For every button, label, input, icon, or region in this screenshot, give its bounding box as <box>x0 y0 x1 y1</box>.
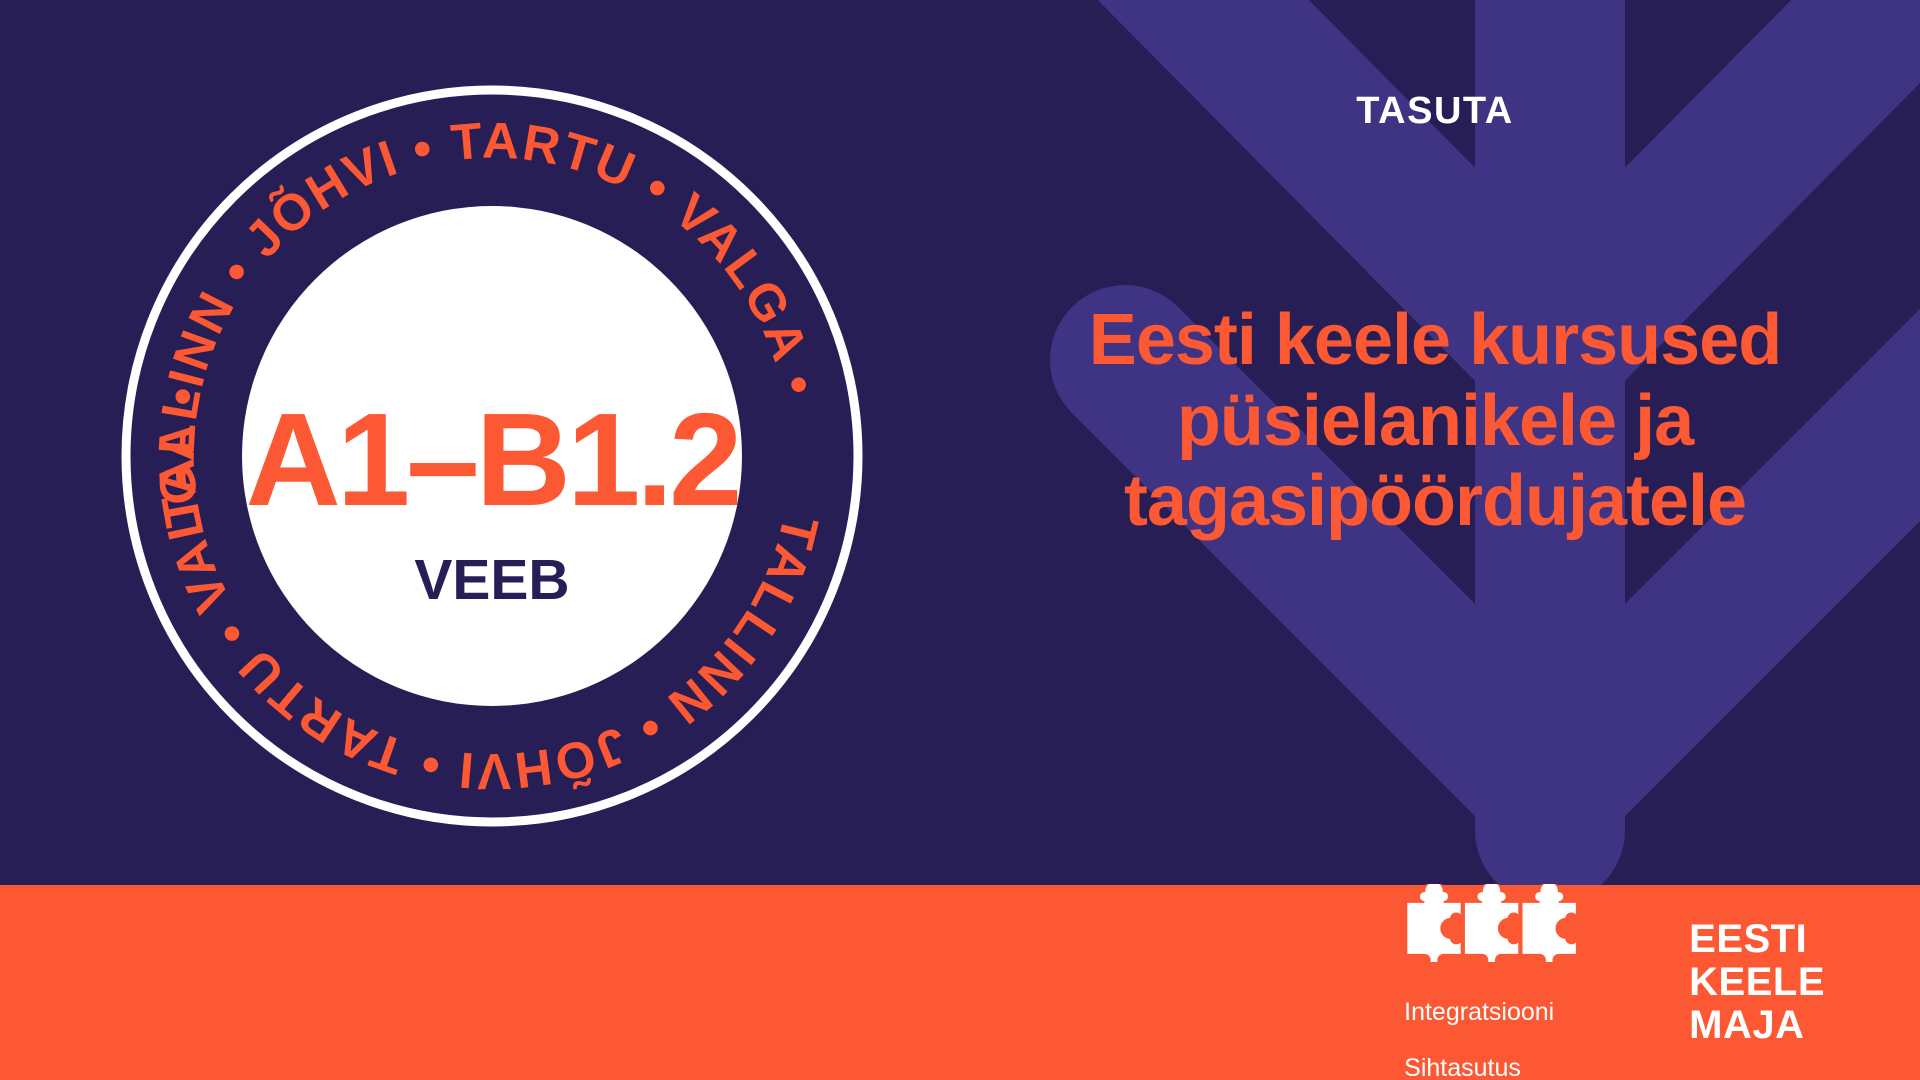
logo-eesti-keele-maja: EESTI KEELE MAJA <box>1689 918 1825 1048</box>
headline: Eesti keele kursused püsielanikele ja ta… <box>950 300 1920 542</box>
logo-row: Integratsiooni Sihtasutus EESTI KEELE MA… <box>1404 885 1825 1080</box>
logo-isf-name-line-1: Integratsiooni <box>1404 998 1554 1026</box>
headline-line-1: Eesti keele kursused <box>950 300 1920 381</box>
headline-line-2: püsielanikele ja <box>950 381 1920 462</box>
footer-bar: Integratsiooni Sihtasutus EESTI KEELE MA… <box>0 885 1920 1080</box>
logo-ekm-line-2: KEELE <box>1689 961 1825 1004</box>
headline-line-3: tagasipöördujatele <box>950 461 1920 542</box>
logo-isf-name-line-2: Sihtasutus <box>1404 1054 1521 1080</box>
logo-integratsiooni-sihtasutus: Integratsiooni Sihtasutus <box>1404 884 1584 1080</box>
logo-ekm-line-3: MAJA <box>1689 1004 1825 1047</box>
puzzle-pieces-icon <box>1404 884 1584 962</box>
price-eyebrow-label: TASUTA <box>950 90 1920 133</box>
course-level-badge: TALLINN • JÕHVI • TARTU • VALGA • TALLIN… <box>108 72 876 840</box>
logo-isf-name: Integratsiooni Sihtasutus <box>1404 970 1554 1080</box>
badge-level-label: A1–B1.2 <box>108 394 876 526</box>
poster-canvas: TALLINN • JÕHVI • TARTU • VALGA • TALLIN… <box>0 0 1920 1080</box>
badge-format-label: VEEB <box>108 552 876 609</box>
logo-ekm-line-1: EESTI <box>1689 918 1825 961</box>
right-content-column: TASUTA Eesti keele kursused püsielanikel… <box>950 0 1920 885</box>
